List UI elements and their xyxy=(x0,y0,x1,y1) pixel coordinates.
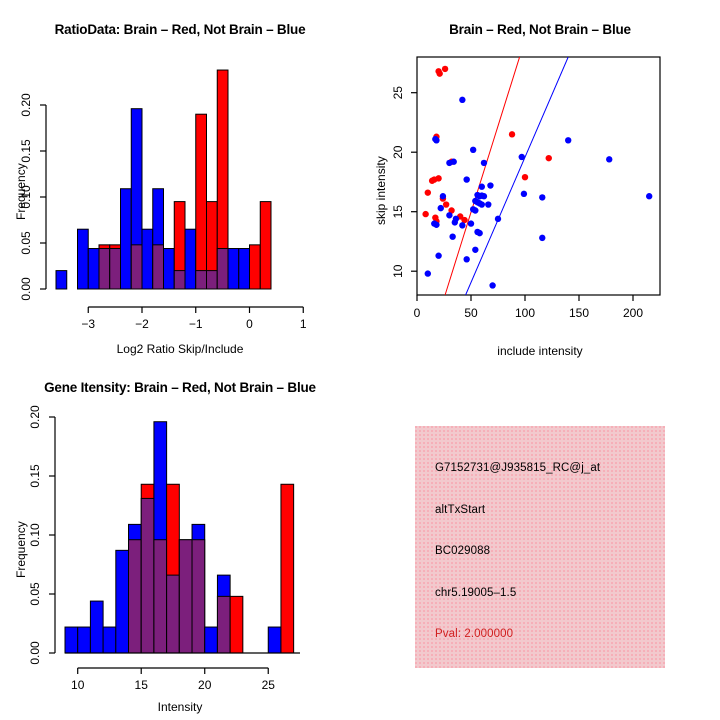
scatter-point xyxy=(479,184,485,190)
scatter-point xyxy=(470,147,476,153)
histogram-bar-overlap xyxy=(207,271,218,289)
histogram-bar xyxy=(116,550,129,653)
histogram-bar-overlap xyxy=(217,249,228,289)
scatter-points xyxy=(422,66,652,289)
info-accession: BC029088 xyxy=(435,545,490,557)
histogram-bar-overlap xyxy=(196,271,207,289)
scatter-point xyxy=(521,191,527,197)
histogram-bar xyxy=(121,189,132,289)
ratio-y-axis xyxy=(40,105,46,289)
x-tick-label: 25 xyxy=(262,678,276,692)
histogram-bar xyxy=(185,229,196,289)
gene-histogram-plot: 0.000.050.100.150.2010152025 xyxy=(0,360,360,720)
y-tick-label: 0.15 xyxy=(28,464,42,488)
x-tick-label: 1 xyxy=(300,317,307,331)
scatter-point xyxy=(451,159,457,165)
ratio-histogram-title: RatioData: Brain – Red, Not Brain – Blue xyxy=(0,22,360,37)
panel-intensity-scatter: Brain – Red, Not Brain – Blue skip inten… xyxy=(360,0,720,360)
scatter-point xyxy=(495,216,501,222)
y-tick-label: 0.20 xyxy=(19,93,33,117)
scatter-point xyxy=(440,193,446,199)
panel-gene-histogram: Gene Itensity: Brain – Red, Not Brain – … xyxy=(0,360,360,720)
histogram-bar-overlap xyxy=(217,596,230,653)
histogram-bar xyxy=(56,271,67,289)
histogram-bar-overlap xyxy=(174,271,185,289)
scatter-point xyxy=(463,256,469,262)
gene-histogram-bars xyxy=(65,422,294,653)
x-tick-label: −1 xyxy=(189,317,203,331)
scatter-point xyxy=(459,97,465,103)
scatter-point xyxy=(481,193,487,199)
histogram-bar xyxy=(103,627,116,653)
x-tick-label: 100 xyxy=(515,306,535,320)
histogram-bar-overlap xyxy=(99,249,110,289)
ratio-histogram-bars xyxy=(56,70,271,289)
histogram-bar xyxy=(239,249,250,289)
scatter-title: Brain – Red, Not Brain – Blue xyxy=(360,22,720,37)
scatter-point xyxy=(459,222,465,228)
y-tick-label: 0.05 xyxy=(28,582,42,606)
scatter-point xyxy=(449,233,455,239)
y-tick-label: 0.00 xyxy=(19,277,33,301)
scatter-point xyxy=(522,174,528,180)
scatter-point xyxy=(435,253,441,259)
gene-x-axis xyxy=(78,668,269,674)
histogram-bar-overlap xyxy=(192,540,205,653)
histogram-bar-overlap xyxy=(131,245,142,289)
scatter-point xyxy=(433,137,439,143)
scatter-point xyxy=(425,270,431,276)
histogram-bar xyxy=(250,245,261,289)
gene-histogram-xlabel: Intensity xyxy=(0,700,360,714)
histogram-bar xyxy=(281,484,294,653)
scatter-point xyxy=(509,131,515,137)
x-tick-label: 10 xyxy=(71,678,85,692)
figure-canvas: RatioData: Brain – Red, Not Brain – Blue… xyxy=(0,0,720,720)
ratio-x-axis xyxy=(88,307,303,313)
scatter-point xyxy=(472,207,478,213)
histogram-bar xyxy=(78,229,89,289)
histogram-bar-overlap xyxy=(179,540,192,653)
histogram-bar-overlap xyxy=(129,540,142,653)
histogram-bar xyxy=(196,114,207,289)
x-tick-label: 200 xyxy=(623,306,643,320)
histogram-bar-overlap xyxy=(141,498,154,653)
scatter-point xyxy=(539,235,545,241)
x-tick-label: 0 xyxy=(246,317,253,331)
gene-y-axis xyxy=(49,417,55,653)
x-tick-label: 150 xyxy=(569,306,589,320)
histogram-bar xyxy=(205,627,218,653)
x-tick-label: 50 xyxy=(464,306,478,320)
histogram-bar xyxy=(90,601,103,653)
scatter-xlabel: include intensity xyxy=(360,344,720,358)
scatter-point xyxy=(565,137,571,143)
info-pval: Pval: 2.000000 xyxy=(435,628,513,640)
scatter-point xyxy=(446,212,452,218)
info-event-type: altTxStart xyxy=(435,504,485,516)
y-tick-label: 0.20 xyxy=(28,405,42,429)
panel-ratio-histogram: RatioData: Brain – Red, Not Brain – Blue… xyxy=(0,0,360,360)
y-tick-label: 25 xyxy=(391,86,405,100)
scatter-point xyxy=(438,205,444,211)
histogram-bar xyxy=(260,202,271,289)
scatter-point xyxy=(472,247,478,253)
histogram-bar xyxy=(65,627,78,653)
ratio-histogram-plot: 0.000.050.100.150.20−3−2−101 xyxy=(0,0,360,360)
scatter-point xyxy=(479,201,485,207)
info-probe-id: G7152731@J935815_RC@j_at xyxy=(435,462,600,474)
x-tick-label: 20 xyxy=(198,678,212,692)
gene-histogram-title: Gene Itensity: Brain – Red, Not Brain – … xyxy=(0,380,360,395)
scatter-point xyxy=(463,176,469,182)
scatter-point xyxy=(476,230,482,236)
scatter-point xyxy=(606,156,612,162)
gene-histogram-ylabel: Frequency xyxy=(14,521,28,578)
info-locus: chr5.19005–1.5 xyxy=(435,587,516,599)
histogram-bar xyxy=(230,596,243,653)
scatter-point xyxy=(519,154,525,160)
histogram-bar-overlap xyxy=(154,540,167,653)
scatter-point xyxy=(435,175,441,181)
scatter-point xyxy=(468,220,474,226)
red-line xyxy=(445,57,520,295)
x-tick-label: 0 xyxy=(414,306,421,320)
scatter-point xyxy=(442,66,448,72)
y-tick-label: 0.05 xyxy=(19,231,33,255)
x-tick-label: −3 xyxy=(81,317,95,331)
scatter-point xyxy=(422,211,428,217)
histogram-bar xyxy=(228,249,239,289)
y-tick-label: 15 xyxy=(391,205,405,219)
ratio-histogram-ylabel: Frequency xyxy=(14,163,28,220)
histogram-bar-overlap xyxy=(153,245,164,289)
scatter-point xyxy=(436,70,442,76)
histogram-bar xyxy=(142,229,153,289)
scatter-point xyxy=(546,155,552,161)
blue-line xyxy=(466,57,569,295)
scatter-point xyxy=(539,194,545,200)
y-tick-label: 10 xyxy=(391,264,405,278)
scatter-point xyxy=(481,160,487,166)
x-tick-label: 15 xyxy=(135,678,149,692)
y-tick-label: 20 xyxy=(391,145,405,159)
y-tick-label: 0.00 xyxy=(28,641,42,665)
intensity-scatter-plot: 05010015020010152025 xyxy=(360,0,720,360)
scatter-point xyxy=(485,201,491,207)
histogram-bar xyxy=(88,249,99,289)
y-tick-label: 0.15 xyxy=(19,139,33,163)
scatter-point xyxy=(443,201,449,207)
scatter-point xyxy=(646,193,652,199)
histogram-bar xyxy=(164,249,175,289)
histogram-bar-overlap xyxy=(110,249,121,289)
scatter-ylabel: skip intensity xyxy=(374,156,388,225)
scatter-point xyxy=(489,282,495,288)
histogram-bar-overlap xyxy=(167,575,180,653)
histogram-bar xyxy=(268,627,281,653)
y-tick-label: 0.10 xyxy=(28,523,42,547)
scatter-plot-box xyxy=(417,57,660,295)
scatter-point xyxy=(487,182,493,188)
gene-info-box: G7152731@J935815_RC@j_at altTxStart BC02… xyxy=(415,426,665,668)
ratio-histogram-xlabel: Log2 Ratio Skip/Include xyxy=(0,342,360,356)
scatter-point xyxy=(452,219,458,225)
scatter-point xyxy=(425,189,431,195)
x-tick-label: −2 xyxy=(135,317,149,331)
histogram-bar xyxy=(78,627,91,653)
scatter-point xyxy=(433,222,439,228)
